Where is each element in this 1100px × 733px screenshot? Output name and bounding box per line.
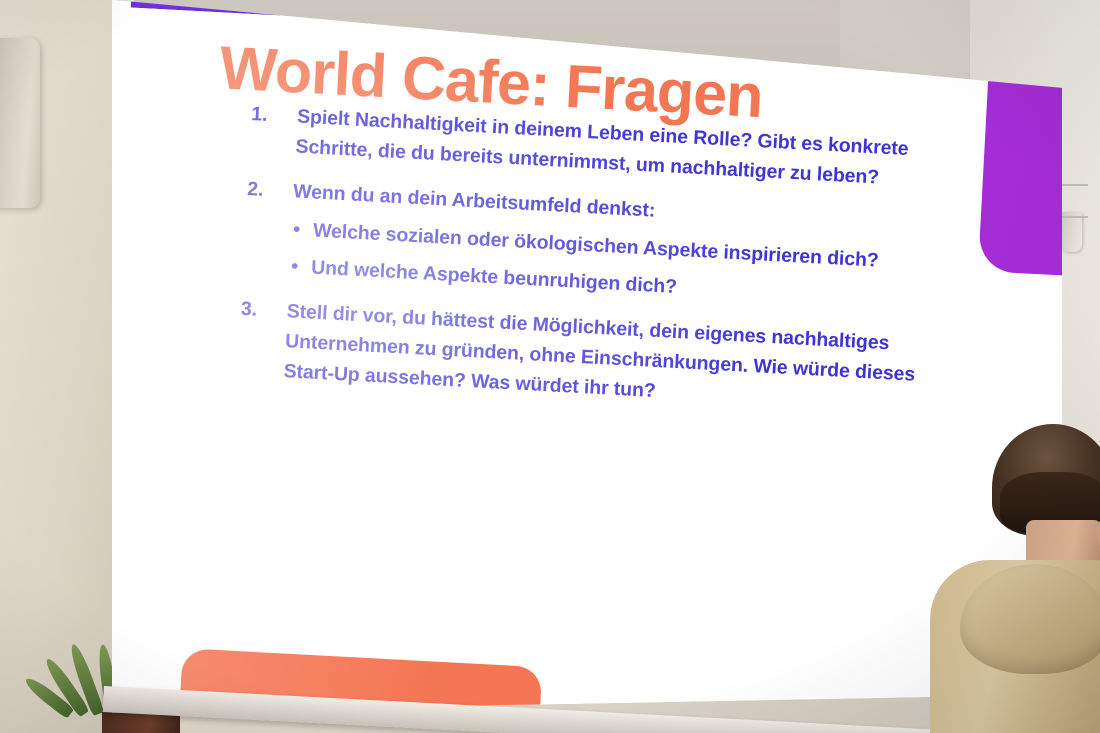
projection-screen:  PowerPoint Bearbeiten Ansicht Fenster … [112,0,1062,733]
wall-sensor-icon [1060,212,1082,252]
question-text: Spielt Nachhaltigkeit in deinem Leben ei… [295,106,909,189]
sub-question-list: Welche sozialen oder ökologischen Aspekt… [288,215,957,317]
question-text: Stell dir vor, du hättest die Möglichkei… [283,301,916,402]
person-in-foreground [940,424,1100,733]
question-text: Wenn du an dein Arbeitsumfeld denkst: [293,181,656,222]
powerpoint-slide: World Cafe: Fragen Spielt Nachhaltigkeit… [112,8,1062,733]
question-item-2: Wenn du an dein Arbeitsumfeld denkst: We… [234,175,959,317]
question-item-3: Stell dir vor, du hättest die Möglichkei… [229,295,953,422]
question-list: Spielt Nachhaltigkeit in deinem Leben ei… [229,100,963,422]
slide-body: Spielt Nachhaltigkeit in deinem Leben ei… [228,100,963,438]
wall-speaker [0,38,40,208]
